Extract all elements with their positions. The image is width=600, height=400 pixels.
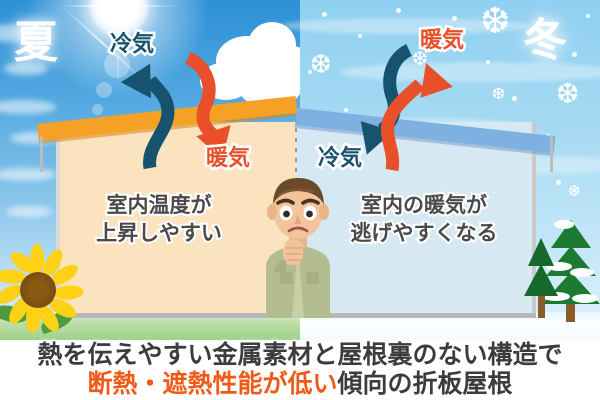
snow-dot [322, 12, 327, 17]
summer-interior-line1: 室内温度が [84, 192, 234, 220]
snowflake-icon: ❆ [480, 4, 510, 40]
lens-flare-2 [96, 82, 112, 98]
winter-interior-text: 室内の暖気が 逃げやすくなる [340, 192, 508, 247]
lens-flare-3 [92, 104, 103, 115]
pine-snow-cap [570, 268, 594, 277]
snow-dot [512, 96, 517, 101]
cloud-wisp [6, 206, 52, 217]
snowflake-icon: ❆ [556, 80, 579, 108]
summer-warm-air-label: 暖気 [206, 140, 250, 172]
season-label-summer: 夏 [14, 6, 59, 70]
winter-cold-air-label: 冷気 [318, 140, 362, 172]
sunflower-icon [0, 248, 88, 340]
pine-tree-icon-back [524, 236, 558, 320]
snow-dot [556, 180, 561, 185]
sunflower-core [20, 272, 56, 308]
pine-trunk-back [538, 294, 545, 318]
caption-block: 熱を伝えやすい金属素材と屋根裏のない構造で 断熱・遮熱性能が低い傾向の折板屋根 [0, 340, 600, 398]
snow-dot [586, 14, 590, 18]
season-label-winter: 冬 [523, 4, 568, 68]
snowflake-icon: ❆ [492, 86, 505, 102]
winter-warm-air-label: 暖気 [420, 22, 464, 54]
caption-line-2-rest: 傾向の折板屋根 [338, 369, 513, 398]
pine-layer-back [524, 264, 558, 296]
snowflake-icon: ❆ [310, 52, 332, 78]
snow-dot [344, 108, 348, 112]
caption-highlight: 断熱・遮熱性能が低い [87, 369, 337, 398]
pine-snow-cap [554, 220, 574, 229]
snow-dot [396, 8, 401, 13]
pine-layer-back [528, 238, 554, 266]
caption-line-1: 熱を伝えやすい金属素材と屋根裏のない構造で [0, 340, 600, 369]
snow-dot [486, 60, 490, 64]
caption-line-2: 断熱・遮熱性能が低い傾向の折板屋根 [0, 369, 600, 398]
winter-interior-line1: 室内の暖気が [340, 192, 508, 220]
snow-dot [572, 52, 577, 57]
illustration-canvas: ❆ ❆ ❆ ❆ ❆ ❆ [0, 0, 600, 400]
snow-dot [452, 16, 457, 21]
eave-left [40, 136, 43, 172]
cloud-wisp [0, 168, 56, 181]
eave-right [550, 136, 553, 172]
summer-cold-air-label: 冷気 [110, 26, 154, 58]
summer-interior-text: 室内温度が 上昇しやすい [84, 192, 234, 247]
winter-interior-line2: 逃げやすくなる [340, 220, 508, 248]
summer-interior-line2: 上昇しやすい [84, 220, 234, 248]
worried-person-icon [252, 172, 344, 318]
pine-snow-cap [572, 294, 598, 303]
snow-dot [358, 34, 362, 38]
snowflake-icon: ❆ [568, 184, 581, 199]
cloud-wisp [0, 100, 56, 114]
